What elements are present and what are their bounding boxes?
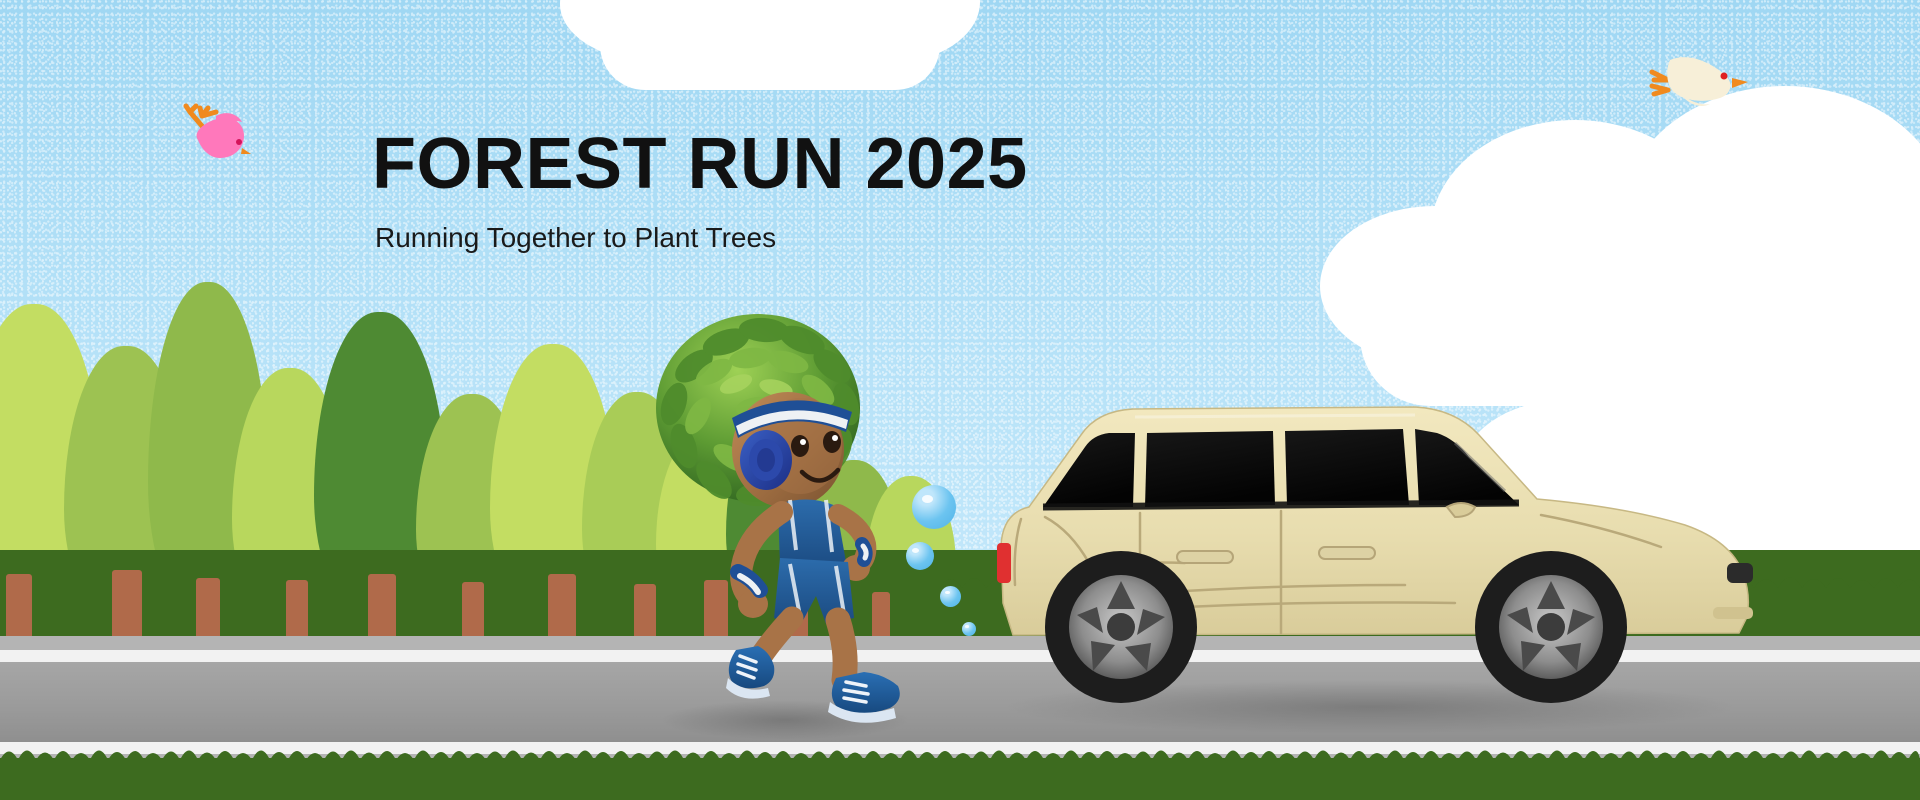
grass-band-lower [0, 758, 1920, 800]
page-title: FOREST RUN 2025 [372, 128, 1028, 200]
tree-trunk [368, 574, 396, 636]
pink-bird-icon [172, 96, 252, 171]
beige-suv [985, 395, 1745, 695]
headphones-icon [740, 430, 792, 490]
tree-trunk [6, 574, 32, 636]
tree-trunk [548, 574, 576, 636]
bubble-small-icon [940, 586, 961, 607]
title-block: FOREST RUN 2025 Running Together to Plan… [372, 128, 1028, 252]
headlight-icon [1727, 563, 1753, 583]
page-subtitle: Running Together to Plant Trees [375, 224, 1028, 252]
cream-bird-icon [1640, 46, 1750, 123]
rear-wheel [1045, 551, 1197, 703]
tree-trunk [286, 580, 308, 636]
tree-trunk [112, 570, 142, 636]
grass-tufts-icon [0, 740, 1920, 760]
bubble-tiny-icon [962, 622, 976, 636]
front-bumper-vent [1713, 607, 1753, 619]
running-shoe-icon [726, 646, 900, 723]
tree-trunk [462, 582, 484, 636]
taillight-icon [997, 543, 1011, 583]
tree-head-runner [640, 300, 900, 720]
front-wheel [1475, 551, 1627, 703]
hero-banner: FOREST RUN 2025 Running Together to Plan… [0, 0, 1920, 800]
tree-trunk [196, 578, 220, 636]
